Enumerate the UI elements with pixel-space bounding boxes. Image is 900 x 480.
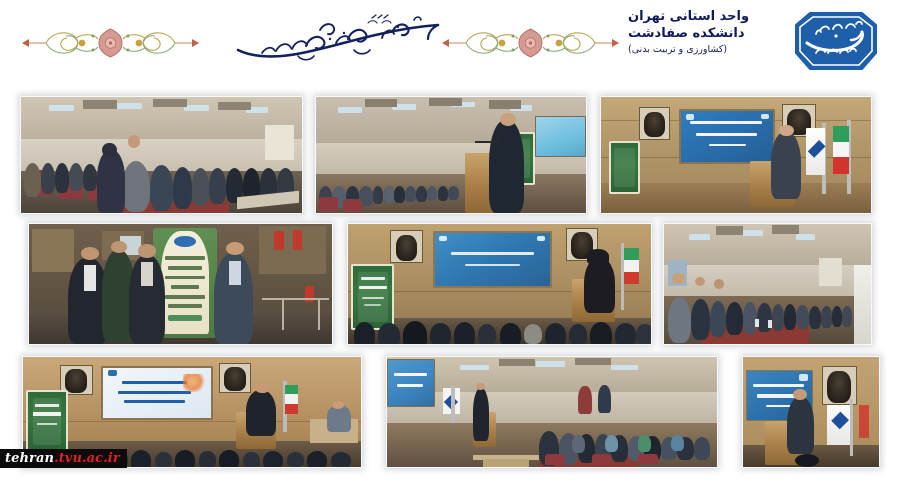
collage-photo-1[interactable] (20, 96, 303, 214)
university-line-2: دانشکده صفادشت (628, 25, 778, 42)
collage-photo-5[interactable] (347, 223, 652, 345)
collage-photo-8[interactable] (386, 356, 718, 468)
collage-photo-6[interactable] (663, 223, 872, 345)
page-root: واحد استانی تهران دانشکده صفادشت (کشاورز… (0, 0, 900, 480)
page-header: واحد استانی تهران دانشکده صفادشت (کشاورز… (0, 0, 900, 88)
watermark-domain-suffix: .tvu.ac.ir (54, 452, 120, 465)
portrait-frame (219, 363, 251, 394)
year-slogan-calligraphy (232, 6, 444, 68)
photo-collage (0, 88, 900, 480)
university-line-1: واحد استانی تهران (628, 8, 778, 25)
university-name-block: واحد استانی تهران دانشکده صفادشت (کشاورز… (628, 8, 778, 57)
national-skills-university-logo-icon (790, 7, 882, 77)
watermark-domain-name: tehran (5, 452, 54, 465)
collage-photo-2[interactable] (315, 96, 587, 214)
collage-photo-4[interactable] (28, 223, 333, 345)
collage-photo-3[interactable] (600, 96, 872, 214)
persian-floral-ornament-right-icon (438, 24, 623, 62)
university-line-3: (کشاورزی و تربیت بدنی) (628, 42, 778, 57)
portrait-frame (639, 107, 671, 139)
portrait-frame (390, 230, 422, 263)
collage-photo-9[interactable] (742, 356, 880, 468)
site-url-watermark: tehran.tvu.ac.ir (0, 449, 127, 468)
persian-floral-ornament-left-icon (18, 24, 203, 62)
